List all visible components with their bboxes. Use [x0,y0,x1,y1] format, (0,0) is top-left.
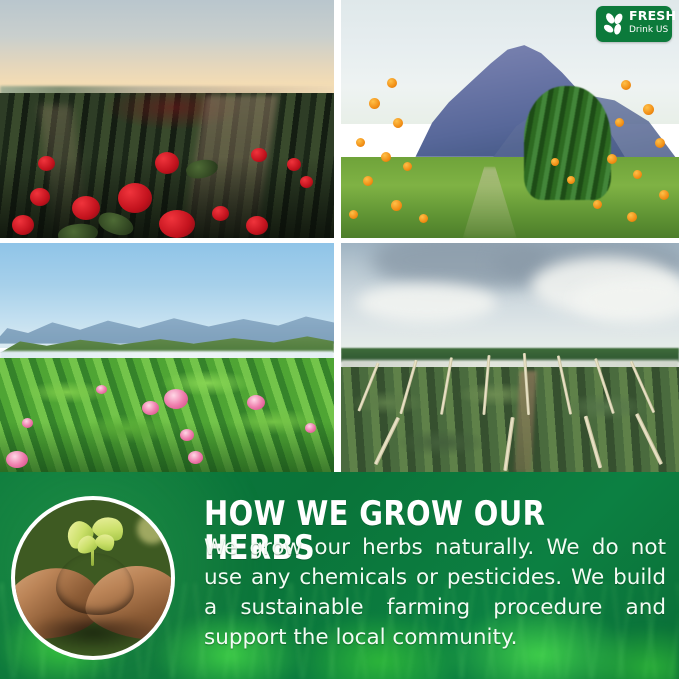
rose-field-scene [0,0,334,238]
orange-fruit [419,214,428,223]
lotus-flower [188,451,203,464]
orange-fruit [356,138,365,147]
hands-holding-seedling-photo [11,496,175,660]
lotus-flower [164,389,188,409]
orange-fruit [387,78,397,88]
lotus-flower [305,423,316,433]
rose-bloom [12,215,34,235]
orange-fruit [655,138,665,148]
rose-bloom [118,183,152,213]
rose-bloom [251,148,267,162]
rose-bloom [246,216,268,235]
rose-bloom [72,196,100,220]
lotus-field-scene [0,243,334,472]
orange-fruit [349,210,358,219]
crop-field-scene [341,243,679,472]
orange-fruit [633,170,642,179]
lotus-flower [247,395,265,410]
white-cloud [357,283,497,323]
lotus-flower [142,401,159,415]
orange-fruit [567,176,575,184]
orange-fruit [403,162,412,171]
lotus-flower [22,418,33,428]
rose-bloom [212,206,229,221]
product-infographic: HOW WE GROW OUR HERBS We grow our herbs … [0,0,679,679]
bokeh-light [137,514,167,544]
badge-line2: Drink US [629,26,671,35]
orange-fruit [363,176,373,186]
orange-fruit [659,190,669,200]
orange-fruit [551,158,559,166]
orange-fruit [393,118,403,128]
rose-field-photo [0,0,334,238]
lotus-flower [6,451,28,468]
hand-shadow [27,619,158,653]
four-leaf-flower-icon [601,11,627,37]
orange-fruit [627,212,637,222]
lotus-flower [180,429,194,441]
rose-bloom [300,176,313,188]
rose-bloom [287,158,301,171]
sunset-sky [0,0,334,95]
rose-bloom [38,156,55,171]
rose-bloom [30,188,50,206]
badge-text: FRESH Drink US [629,10,671,35]
badge-line1: FRESH [629,10,671,23]
orange-fruit [391,200,402,211]
orange-fruit [607,154,617,164]
brand-badge[interactable]: FRESH Drink US [596,6,672,42]
foreground-shadow [0,422,334,472]
orange-fruit [381,152,391,162]
orange-fruit [621,80,631,90]
lotus-flower [96,385,107,394]
orange-fruit [615,118,624,127]
staked-crop-field-photo [341,243,679,472]
rose-bloom [155,152,179,174]
rose-bloom [159,210,195,238]
lotus-field-photo [0,243,334,472]
orange-fruit [643,104,654,115]
photo-grid [0,0,679,472]
orange-fruit [369,98,380,109]
orange-fruit [593,200,602,209]
panel-body-text: We grow our herbs naturally. We do not u… [204,533,666,653]
